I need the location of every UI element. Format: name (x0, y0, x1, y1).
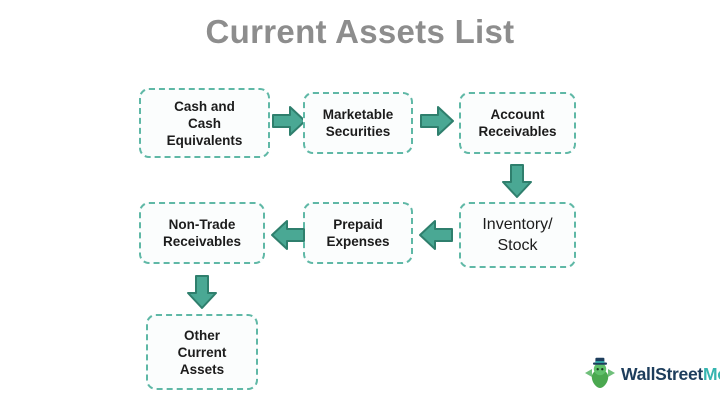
node-prepaid-expenses[interactable]: Prepaid Expenses (303, 202, 413, 264)
node-account-receivables[interactable]: Account Receivables (459, 92, 576, 154)
arrow-down-receivables-to-inventory (500, 163, 534, 199)
wallstreetmojo-logo: WallStreetMojo (583, 357, 720, 391)
node-marketable-securities[interactable]: Marketable Securities (303, 92, 413, 154)
wallstreetmojo-mascot-icon (583, 357, 617, 391)
logo-text-mojo: Mojo (703, 364, 720, 384)
arrow-down-nontrade-to-other (185, 274, 219, 310)
diagram-canvas: Current Assets List Cash and Cash Equiva… (0, 0, 720, 403)
page-title: Current Assets List (0, 12, 720, 52)
wallstreetmojo-wordmark: WallStreetMojo (621, 364, 720, 385)
logo-text-wallstreet: WallStreet (621, 364, 703, 384)
arrow-right-marketable-to-receivables (419, 104, 455, 138)
arrow-left-inventory-to-prepaid (418, 218, 454, 252)
arrow-right-cash-to-marketable (271, 104, 307, 138)
arrow-left-prepaid-to-nontrade (270, 218, 306, 252)
node-other-current-assets[interactable]: Other Current Assets (146, 314, 258, 390)
node-inventory-stock[interactable]: Inventory/ Stock (459, 202, 576, 268)
node-cash-and-cash-equivalents[interactable]: Cash and Cash Equivalents (139, 88, 270, 158)
node-non-trade-receivables[interactable]: Non-Trade Receivables (139, 202, 265, 264)
